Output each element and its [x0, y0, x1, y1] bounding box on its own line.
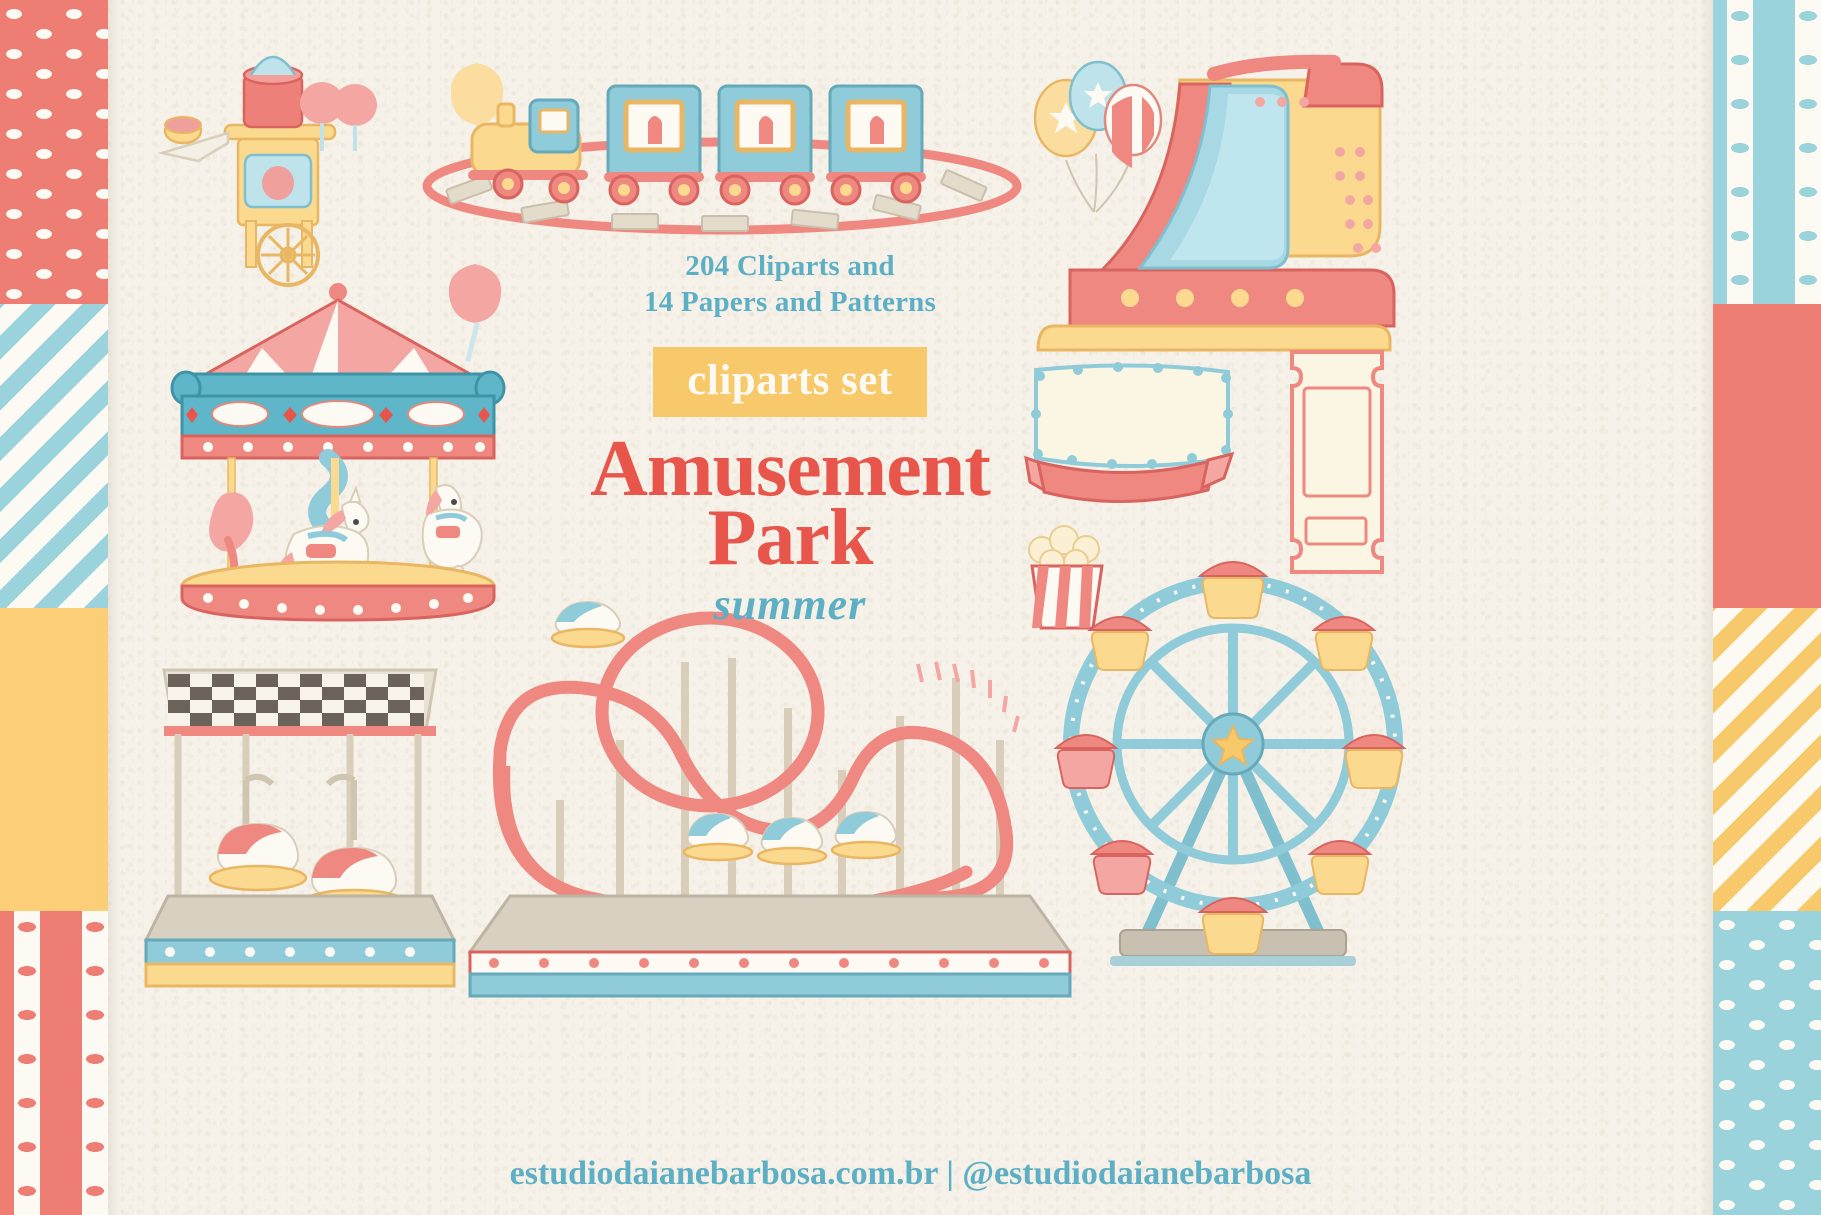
inflatable-slide-illustration — [1010, 40, 1410, 350]
border-left-segment-red-polka-dots — [0, 0, 108, 304]
subline-1: 204 Cliparts and — [560, 248, 1020, 284]
poster-canvas: 204 Cliparts and 14 Papers and Patterns … — [0, 0, 1821, 1215]
footer-credit: estudiodaianebarbosa.com.br | @estudioda… — [0, 1155, 1821, 1193]
right-paper-edge-shadow — [1700, 0, 1713, 1215]
cliparts-set-chip: cliparts set — [653, 347, 926, 417]
ferris-wheel-illustration — [1048, 520, 1418, 970]
toy-train-illustration — [412, 78, 1032, 238]
carousel-illustration — [168, 278, 508, 638]
border-left-segment-teal-diagonal-stripes — [0, 304, 108, 608]
banner-sign-illustration — [1022, 358, 1242, 528]
page-title-line-2: Park — [560, 504, 1020, 573]
subline-2: 14 Papers and Patterns — [560, 284, 1020, 320]
left-paper-edge-shadow — [108, 0, 121, 1215]
border-left-segment-solid-yellow — [0, 608, 108, 912]
border-right-segment-teal-vertical-stripes — [1713, 0, 1821, 304]
border-right-segment-yellow-diagonal-stripes — [1713, 608, 1821, 912]
roller-coaster-illustration — [470, 600, 1070, 990]
bumper-cars-illustration — [150, 660, 450, 990]
border-right-segment-solid-red — [1713, 304, 1821, 608]
right-border-strip — [1713, 0, 1821, 1215]
center-text-block: 204 Cliparts and 14 Papers and Patterns … — [560, 248, 1020, 630]
summer-script-word: summer — [560, 579, 1020, 630]
left-border-strip — [0, 0, 108, 1215]
page-title: Amusement Park — [560, 435, 1020, 573]
cotton-candy-cart-illustration — [150, 25, 410, 295]
